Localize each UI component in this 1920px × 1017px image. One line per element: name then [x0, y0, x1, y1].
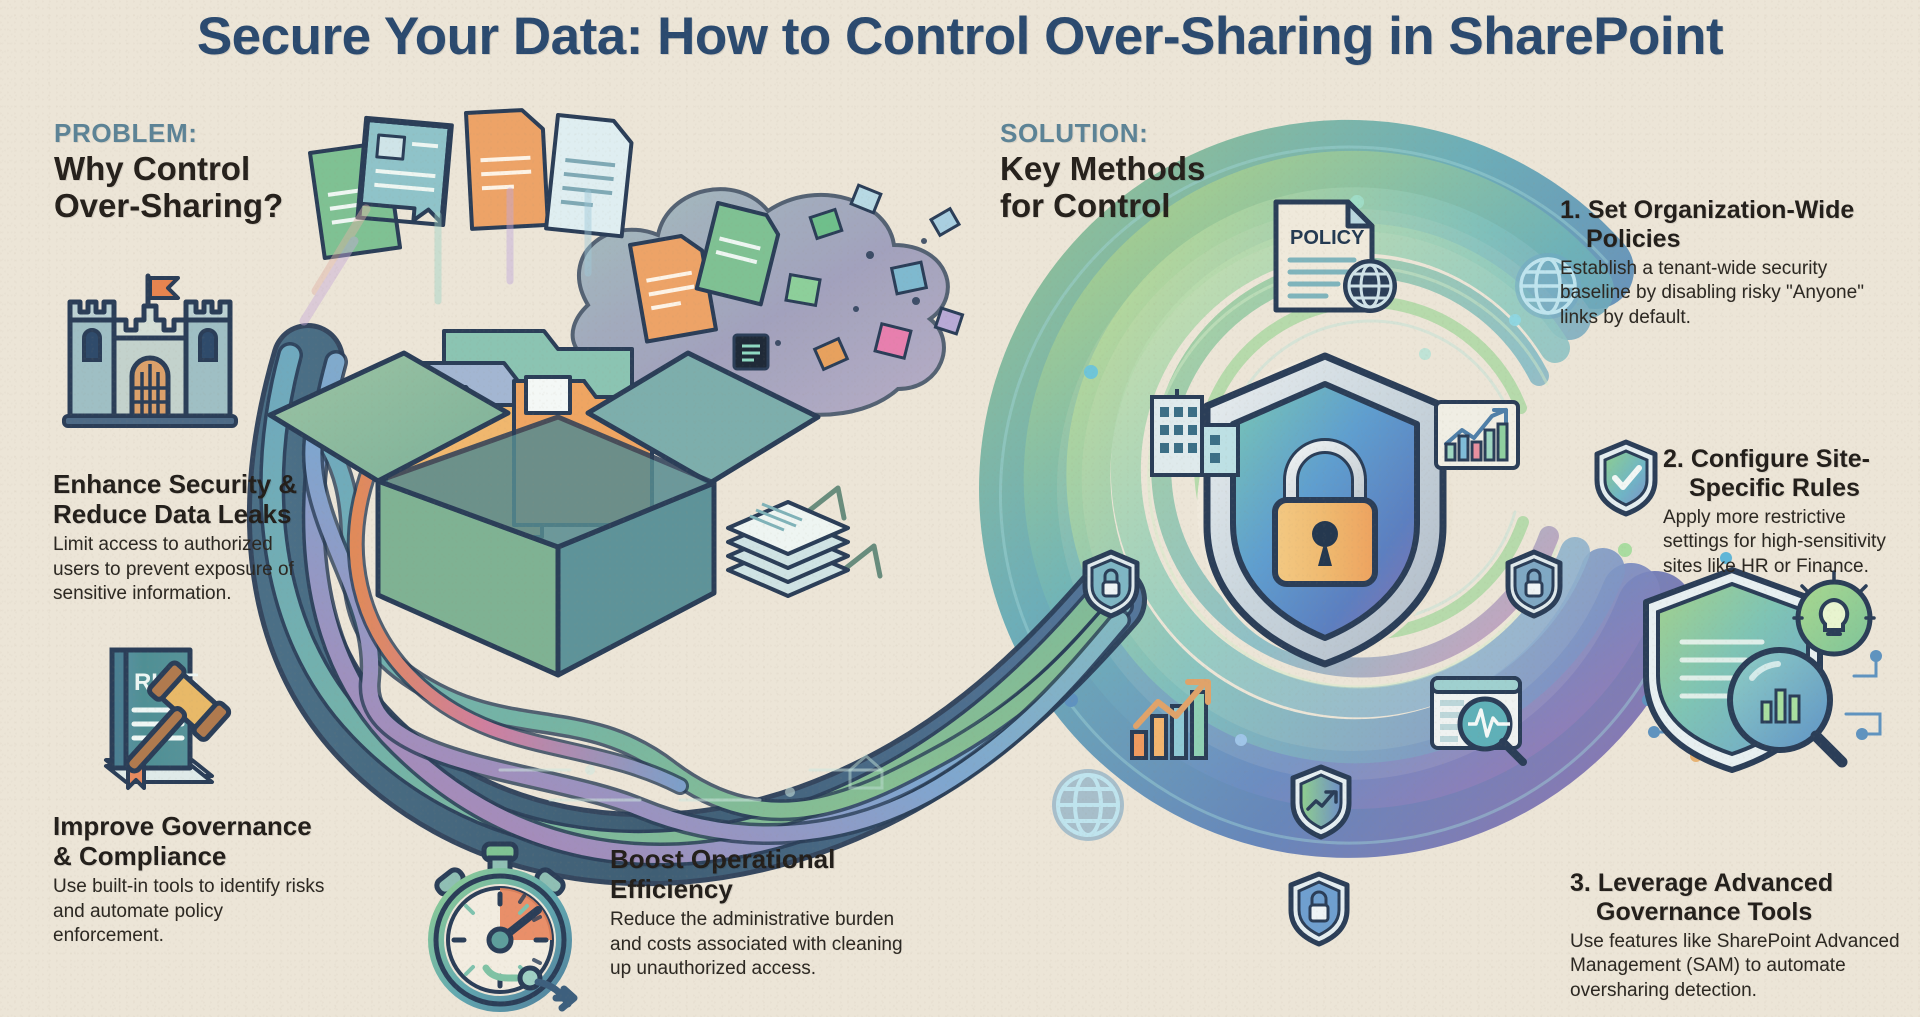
policy-document-globe-icon: POLICY	[1272, 198, 1412, 318]
solution-section-header: SOLUTION: Key Methods for Control	[1000, 118, 1205, 225]
method-body: Use features like SharePoint Advanced Ma…	[1570, 930, 1910, 1003]
shield-padlock-icon	[1505, 550, 1563, 618]
benefit-body: Limit access to authorized users to prev…	[53, 533, 323, 606]
problem-heading: Why Control Over-Sharing?	[54, 151, 283, 225]
page-title: Secure Your Data: How to Control Over-Sh…	[0, 6, 1920, 67]
benefit-item-governance: Improve Governance & Compliance Use buil…	[53, 812, 328, 948]
shield-check-icon	[1594, 440, 1658, 516]
solution-heading-line1: Key Methods	[1000, 151, 1205, 188]
benefit-body: Use built-in tools to identify risks and…	[53, 875, 328, 948]
method-body: Apply more restrictive settings for high…	[1663, 506, 1903, 579]
office-building-icon	[1150, 395, 1242, 477]
method-body: Establish a tenant-wide security baselin…	[1560, 257, 1900, 330]
solution-heading: Key Methods for Control	[1000, 151, 1205, 225]
method-title: 2. Configure Site-Specific Rules	[1663, 445, 1903, 502]
method-number: 2.	[1663, 445, 1684, 473]
growth-chart-arrow-icon	[1128, 676, 1234, 766]
stopwatch-icon	[420, 840, 610, 1015]
method-title: 1. Set Organization-Wide Policies	[1560, 196, 1900, 253]
method-title-text: Set Organization-Wide Policies	[1586, 196, 1854, 253]
solution-heading-line2: for Control	[1000, 188, 1205, 225]
castle-icon	[60, 268, 240, 443]
benefit-title: Boost Operational Efficiency	[610, 845, 920, 904]
problem-kicker: PROBLEM:	[54, 118, 283, 149]
bar-chart-growth-icon	[1434, 400, 1520, 472]
shield-lock-icon	[1082, 550, 1140, 618]
problem-section-header: PROBLEM: Why Control Over-Sharing?	[54, 118, 283, 225]
solution-kicker: SOLUTION:	[1000, 118, 1205, 149]
method-item-1: 1. Set Organization-Wide Policies Establ…	[1560, 196, 1900, 330]
method-item-3: 3. Leverage Advanced Governance Tools Us…	[1570, 869, 1910, 1003]
shield-padlock-bottom-icon	[1288, 872, 1350, 946]
benefit-item-security: Enhance Security & Reduce Data Leaks Lim…	[53, 470, 323, 606]
method-title-text: Leverage Advanced Governance Tools	[1596, 869, 1833, 926]
open-box-with-spilling-files-icon	[258, 95, 958, 575]
globe-icon	[1048, 765, 1128, 845]
method-number: 1.	[1560, 196, 1581, 224]
benefit-item-efficiency: Boost Operational Efficiency Reduce the …	[610, 845, 920, 981]
method-item-2: 2. Configure Site-Specific Rules Apply m…	[1663, 445, 1903, 579]
benefit-title: Improve Governance & Compliance	[53, 812, 328, 871]
problem-heading-line1: Why Control	[54, 151, 283, 188]
problem-heading-line2: Over-Sharing?	[54, 188, 283, 225]
benefit-body: Reduce the administrative burden and cos…	[610, 908, 920, 981]
method-title: 3. Leverage Advanced Governance Tools	[1570, 869, 1910, 926]
shield-magnifier-bulb-icon	[1640, 550, 1900, 780]
method-number: 3.	[1570, 869, 1591, 897]
dashboard-magnifier-icon	[1430, 676, 1534, 768]
benefit-title: Enhance Security & Reduce Data Leaks	[53, 470, 323, 529]
shield-trend-icon	[1290, 765, 1352, 839]
rulebook-gavel-icon: RULE	[82, 642, 247, 807]
policy-doc-label: POLICY	[1290, 227, 1365, 249]
method-title-text: Configure Site-Specific Rules	[1689, 445, 1870, 502]
